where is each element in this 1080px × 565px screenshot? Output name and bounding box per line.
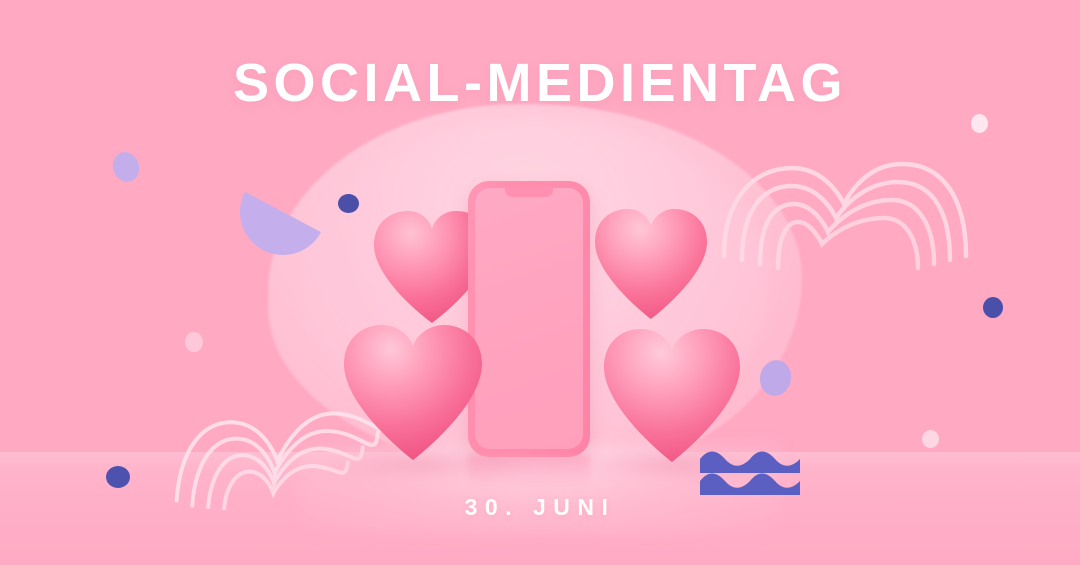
poster-canvas: SOCIAL-MEDIENTAG 30. JUNI xyxy=(0,0,1080,565)
dot-lilac-top-left-icon xyxy=(109,149,143,186)
dot-white-left-icon xyxy=(185,332,203,352)
poster-title: SOCIAL-MEDIENTAG xyxy=(0,56,1080,110)
wave-block-icon xyxy=(700,451,800,499)
dot-blue-right-icon xyxy=(983,297,1003,318)
phone-notch xyxy=(505,188,553,197)
dot-white-right-icon xyxy=(922,430,939,448)
dot-blue-bottom-icon xyxy=(106,466,130,488)
heart-upper-right-icon xyxy=(590,203,712,321)
dot-white-top-icon xyxy=(971,114,988,133)
heart-lower-right-icon xyxy=(597,322,747,464)
poster-date: 30. JUNI xyxy=(0,496,1080,519)
phone-screen[interactable] xyxy=(475,188,583,449)
dot-blue-top-icon xyxy=(338,194,359,213)
heart-lower-left-icon xyxy=(337,318,489,462)
